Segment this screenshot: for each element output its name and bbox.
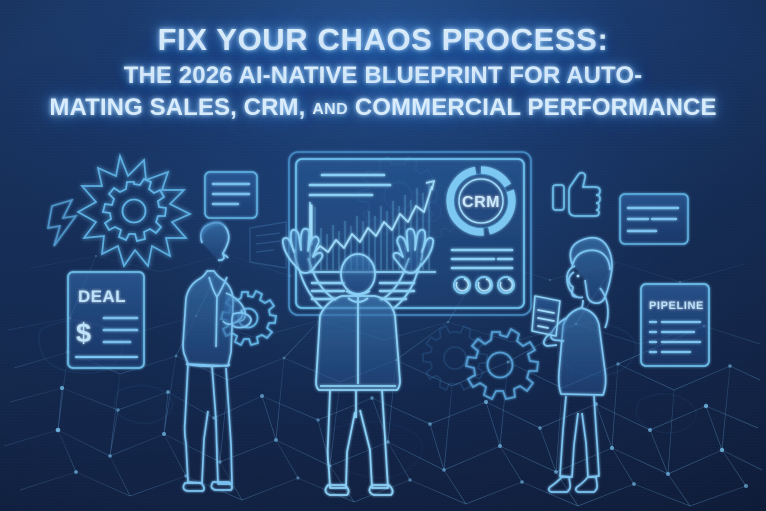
title-line-3: MATING SALES, CRM, AND COMMERCIAL PERFOR… — [0, 96, 766, 120]
note-right-card — [620, 194, 688, 244]
thumbs-up-icon — [553, 173, 600, 216]
title-line-3-part-1: MATING SALES, CRM, — [49, 94, 305, 121]
note-left-card — [205, 172, 257, 218]
businesswoman-right — [532, 238, 612, 492]
gear-icon — [103, 179, 166, 241]
gear-center-icon — [466, 329, 538, 399]
banner-canvas: DEAL $ — [0, 0, 766, 511]
businessman-center — [283, 229, 433, 495]
crm-label: CRM — [462, 194, 500, 211]
title-line-2: THE 2026 AI-NATIVE BLUEPRINT FOR AUTO- — [0, 64, 766, 88]
pipeline-card: PIPELINE — [641, 284, 709, 366]
crm-donut-chart: CRM — [450, 170, 512, 232]
title-line-1: FIX YOUR CHAOS PROCESS: — [0, 24, 766, 55]
gear-burst-icon — [78, 156, 190, 266]
businessman-left — [183, 220, 251, 491]
pipeline-card-label: PIPELINE — [649, 300, 704, 312]
lightning-bolt-icon — [48, 200, 76, 246]
title-line-3-part-2: COMMERCIAL PERFORMANCE — [355, 94, 717, 121]
dollar-sign-icon: $ — [76, 318, 91, 348]
deal-card: DEAL $ — [68, 272, 144, 368]
banner-title: FIX YOUR CHAOS PROCESS: THE 2026 AI-NATI… — [0, 24, 766, 120]
title-line-3-and: AND — [312, 101, 348, 118]
deal-card-label: DEAL — [78, 287, 126, 306]
tablet-document — [532, 296, 560, 336]
